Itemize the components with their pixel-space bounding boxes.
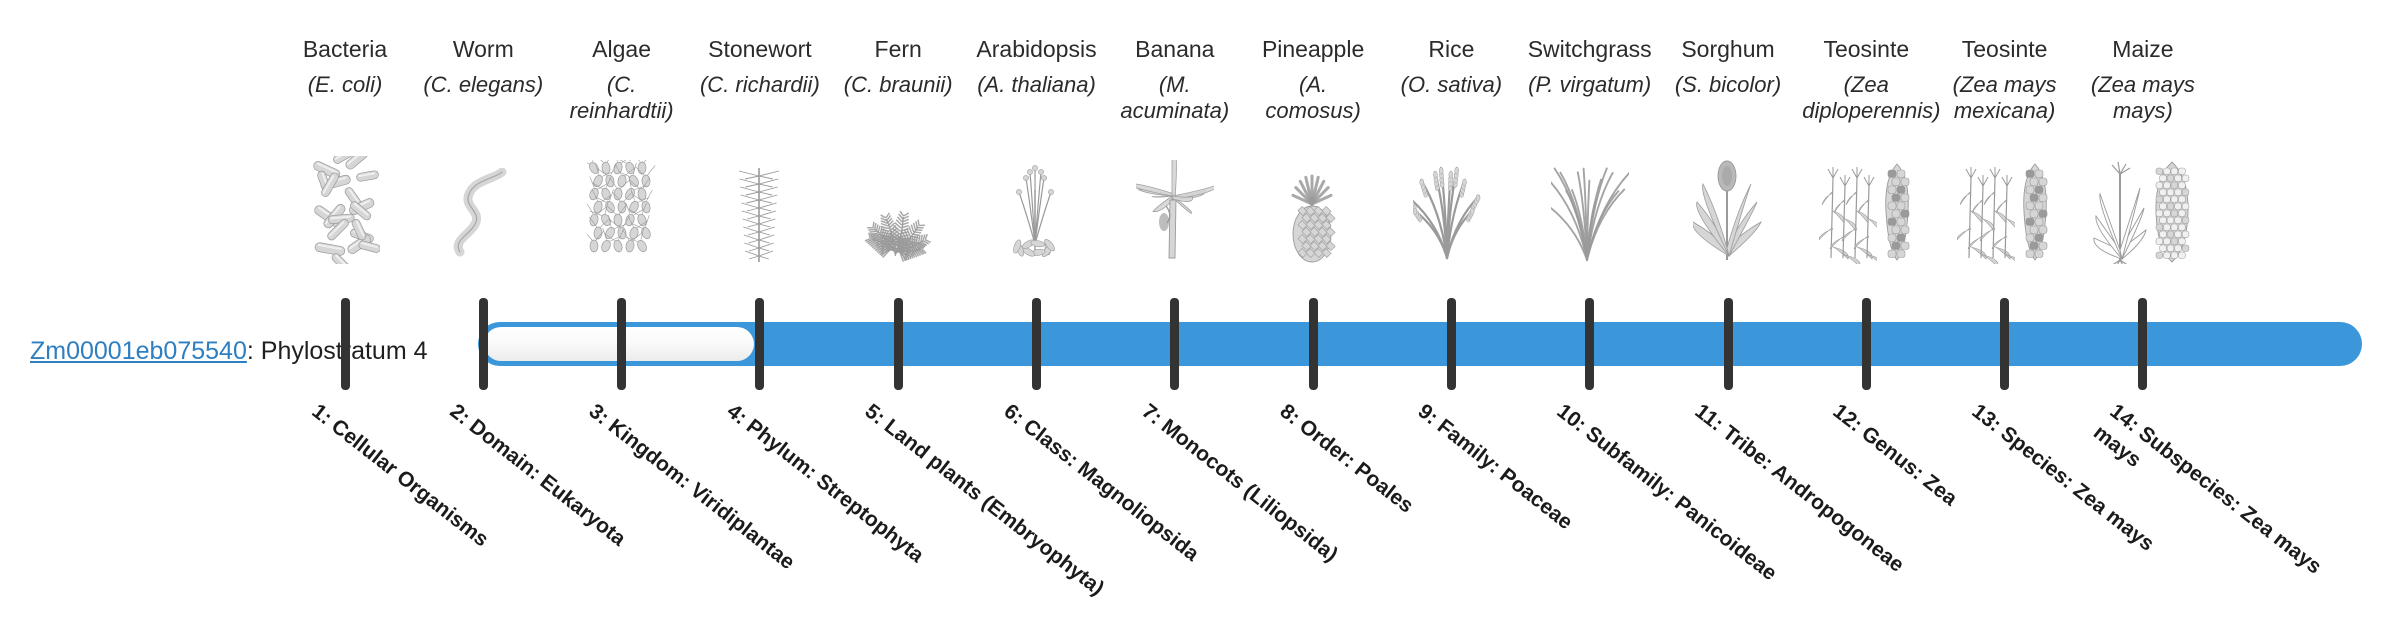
- phylostratum-rank: Species: Zea mays: [1996, 422, 2158, 556]
- phylostratum-rank: Kingdom: Viridiplantae: [604, 415, 799, 574]
- phylostratum-tick-6[interactable]: [1032, 298, 1041, 390]
- species-scientific-name: (P. virgatum): [1524, 72, 1656, 98]
- species-column-2: Worm(C. elegans): [417, 36, 549, 98]
- phylostratum-rank: Subspecies: Zea mays mays: [2089, 421, 2326, 579]
- species-scientific-name: (C. richardii): [694, 72, 826, 98]
- phylostratum-rank: Subfamily: Panicoideae: [1581, 422, 1781, 585]
- phylostratum-label-9: 9: Family: Poaceae: [1413, 398, 1666, 604]
- phylostratum-tick-2[interactable]: [479, 298, 488, 390]
- phylostratum-tick-1[interactable]: [341, 298, 350, 390]
- phylostratum-tick-4[interactable]: [755, 298, 764, 390]
- phylostratum-label-10: 10: Subfamily: Panicoideae: [1551, 398, 1804, 604]
- phylostratum-tick-9[interactable]: [1447, 298, 1456, 390]
- species-scientific-name: (M. acuminata): [1109, 72, 1241, 124]
- species-common-name: Rice: [1385, 36, 1517, 63]
- arabidopsis-icon: [971, 168, 1103, 264]
- fern-icon: [832, 168, 964, 264]
- species-column-10: Switchgrass(P. virgatum): [1524, 36, 1656, 98]
- phylostratum-tick-12[interactable]: [1862, 298, 1871, 390]
- phylostratum-number: 14:: [2105, 400, 2143, 437]
- species-common-name: Pineapple: [1247, 36, 1379, 63]
- species-common-name: Banana: [1109, 36, 1241, 63]
- teosinte-icon: [1939, 168, 2071, 264]
- switchgrass-icon: [1524, 168, 1656, 264]
- species-scientific-name: (E. coli): [279, 72, 411, 98]
- species-common-name: Stonewort: [694, 36, 826, 63]
- phylostratum-number: 8:: [1276, 400, 1305, 430]
- species-scientific-name: (O. sativa): [1385, 72, 1517, 98]
- phylostratum-rank: Domain: Eukaryota: [465, 415, 630, 551]
- species-common-name: Algae: [556, 36, 688, 63]
- species-common-name: Bacteria: [279, 36, 411, 63]
- phylostratum-rank: Family: Poaceae: [1433, 415, 1577, 534]
- phylostratum-number: 2:: [446, 400, 475, 430]
- species-common-name: Maize: [2077, 36, 2209, 63]
- phylostratum-label-4: 4: Phylum: Streptophyta: [721, 398, 974, 604]
- species-scientific-name: (Zea mays mays): [2077, 72, 2209, 124]
- phylostratum-label-13: 13: Species: Zea mays: [1966, 398, 2219, 604]
- phylostratum-number: 6:: [999, 400, 1028, 430]
- species-scientific-name: (S. bicolor): [1662, 72, 1794, 98]
- species-scientific-name: (Zea mays mexicana): [1939, 72, 2071, 124]
- phylostratum-tick-3[interactable]: [617, 298, 626, 390]
- species-scientific-name: (C. braunii): [832, 72, 964, 98]
- phylostratum-tick-7[interactable]: [1170, 298, 1179, 390]
- phylostratum-rank: Land plants (Embryophyta): [880, 415, 1108, 600]
- species-scientific-name: (A. thaliana): [971, 72, 1103, 98]
- species-column-5: Fern(C. braunii): [832, 36, 964, 98]
- species-column-11: Sorghum(S. bicolor): [1662, 36, 1794, 98]
- gene-id-link[interactable]: Zm00001eb075540: [30, 337, 247, 365]
- phylostratum-rank: Class: Magnoliopsida: [1018, 415, 1202, 566]
- phylostratum-number: 9:: [1414, 400, 1443, 430]
- species-column-14: Maize(Zea mays mays): [2077, 36, 2209, 124]
- phylostratum-label-8: 8: Order: Poales: [1274, 398, 1527, 604]
- phylostratum-rank: Order: Poales: [1295, 415, 1418, 518]
- phylostratum-label-3: 3: Kingdom: Viridiplantae: [583, 398, 836, 604]
- worm-icon: [417, 168, 549, 264]
- gene-phylostratum-label: Zm00001eb075540: Phylostratum 4: [30, 336, 450, 366]
- maize-icon: [2077, 168, 2209, 264]
- species-column-7: Banana(M. acuminata): [1109, 36, 1241, 124]
- phylostratum-number: 12:: [1829, 400, 1867, 437]
- species-column-6: Arabidopsis(A. thaliana): [971, 36, 1103, 98]
- phylostratum-number: 1:: [308, 400, 337, 430]
- phylostratum-rank: Phylum: Streptophyta: [742, 415, 928, 567]
- species-column-8: Pineapple(A. comosus): [1247, 36, 1379, 124]
- phylostratum-tick-14[interactable]: [2138, 298, 2147, 390]
- phylostratum-label-5: 5: Land plants (Embryophyta): [860, 398, 1113, 604]
- phylostratum-rank: Tribe: Andropogoneae: [1718, 421, 1908, 577]
- teosinte-icon: [1800, 168, 1932, 264]
- species-column-1: Bacteria(E. coli): [279, 36, 411, 98]
- phylostratum-label-2: 2: Domain: Eukaryota: [445, 398, 698, 604]
- species-common-name: Arabidopsis: [971, 36, 1103, 63]
- phylostratum-rank: Cellular Organisms: [327, 415, 493, 552]
- phylostratum-tick-8[interactable]: [1309, 298, 1318, 390]
- phylostratum-label-6: 6: Class: Magnoliopsida: [998, 398, 1251, 604]
- phylostratum-label-14: 14: Subspecies: Zea mays mays: [2088, 398, 2358, 625]
- phylostratigraphy-timeline: Zm00001eb075540: Phylostratum 4 Bacteria…: [0, 0, 2400, 580]
- pineapple-icon: [1247, 168, 1379, 264]
- phylostratum-number: 3:: [584, 400, 613, 430]
- bacteria-icon: [279, 168, 411, 264]
- species-scientific-name: (C. elegans): [417, 72, 549, 98]
- phylostratum-tick-5[interactable]: [894, 298, 903, 390]
- phylostratum-number: 7:: [1137, 400, 1166, 430]
- phylostratum-tick-13[interactable]: [2000, 298, 2009, 390]
- phylostratum-label-7: 7: Monocots (Liliopsida): [1136, 398, 1389, 604]
- species-column-3: Algae(C. reinhardtii): [556, 36, 688, 124]
- phylostratum-number: 5:: [861, 400, 890, 430]
- species-column-13: Teosinte(Zea mays mexicana): [1939, 36, 2071, 124]
- species-common-name: Teosinte: [1939, 36, 2071, 63]
- phylostratum-number: 4:: [722, 400, 751, 430]
- phylostratum-number: 13:: [1967, 400, 2005, 437]
- species-scientific-name: (Zea diploperennis): [1800, 72, 1932, 124]
- rice-icon: [1385, 168, 1517, 264]
- algae-icon: [556, 168, 688, 264]
- species-common-name: Worm: [417, 36, 549, 63]
- gene-label-separator: :: [247, 337, 261, 365]
- species-common-name: Fern: [832, 36, 964, 63]
- phylostratum-number: 10:: [1552, 400, 1590, 437]
- species-scientific-name: (A. comosus): [1247, 72, 1379, 124]
- stonewort-icon: [694, 168, 826, 264]
- banana-icon: [1109, 168, 1241, 264]
- phylostratum-number: 11:: [1691, 400, 1728, 436]
- species-column-9: Rice(O. sativa): [1385, 36, 1517, 98]
- species-column-12: Teosinte(Zea diploperennis): [1800, 36, 1932, 124]
- species-column-4: Stonewort(C. richardii): [694, 36, 826, 98]
- phylostratum-label-12: 12: Genus: Zea: [1828, 398, 2081, 604]
- species-common-name: Teosinte: [1800, 36, 1932, 63]
- species-common-name: Switchgrass: [1524, 36, 1656, 63]
- species-scientific-name: (C. reinhardtii): [556, 72, 688, 124]
- phylostratum-label-1: 1: Cellular Organisms: [306, 398, 559, 604]
- phylostratum-tick-10[interactable]: [1585, 298, 1594, 390]
- phylostratum-rank: Monocots (Liliopsida): [1157, 415, 1342, 567]
- phylostratum-tick-11[interactable]: [1724, 298, 1733, 390]
- sorghum-icon: [1662, 168, 1794, 264]
- phylostratum-rank: Genus: Zea: [1857, 422, 1961, 511]
- phylostratum-label-11: 11: Tribe: Andropogoneae: [1689, 398, 1942, 604]
- species-common-name: Sorghum: [1662, 36, 1794, 63]
